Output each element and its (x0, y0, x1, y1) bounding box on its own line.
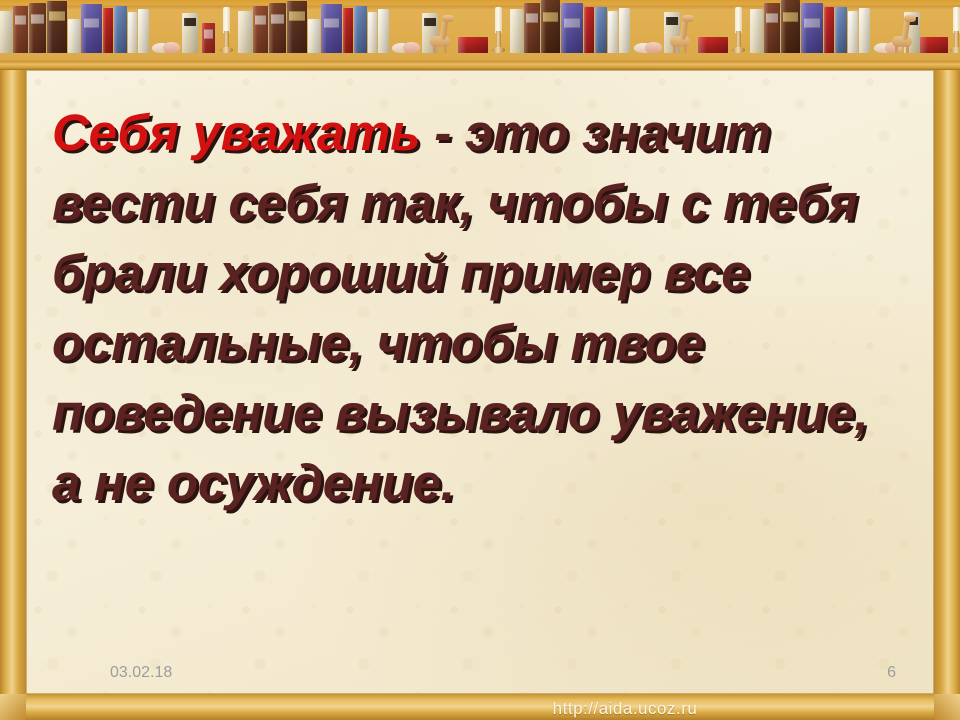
book-spine (81, 4, 102, 53)
book-spine (354, 6, 367, 53)
candlestick-icon (492, 7, 505, 53)
quote-body: - это значит вести себя так, чтобы с теб… (52, 104, 868, 511)
book-spine (824, 7, 834, 53)
candlestick-icon (732, 7, 745, 53)
giraffe-figurine-icon (890, 13, 916, 53)
book-spine (561, 3, 583, 53)
book-spine (595, 7, 607, 53)
book-spine (619, 8, 630, 53)
frame-right-edge (934, 70, 960, 720)
frame-left-edge (0, 70, 26, 720)
candlestick-icon (220, 7, 233, 53)
candlestick-icon (950, 7, 960, 53)
bookshelf-border (0, 0, 960, 70)
book-spine (781, 0, 800, 53)
book-spine (835, 7, 847, 53)
book-spine (378, 9, 389, 53)
book-spine (182, 13, 198, 53)
book-spine (510, 9, 523, 53)
book-spine (458, 37, 488, 53)
quote-text: Себя уважать - это значит вести себя так… (52, 98, 908, 518)
shell-ornament (152, 40, 182, 53)
book-spine (584, 7, 594, 53)
footer-page-number: 6 (887, 664, 896, 682)
book-spine (0, 11, 12, 53)
book-spine (253, 6, 268, 53)
bookshelf-tile (200, 0, 440, 62)
book-spine (308, 19, 320, 53)
footer-date: 03.02.18 (110, 664, 172, 682)
book-spine (13, 6, 28, 53)
slide: Себя уважать - это значит вести себя так… (0, 0, 960, 720)
book-spine (68, 19, 80, 53)
slide-content-area: Себя уважать - это значит вести себя так… (26, 70, 934, 694)
book-spine (608, 11, 618, 53)
book-spine (128, 12, 137, 53)
book-spine (114, 6, 127, 53)
book-spine (269, 3, 286, 53)
giraffe-figurine-icon (668, 13, 694, 53)
book-spine (321, 4, 342, 53)
book-spine (541, 0, 560, 53)
bookshelf-tile (680, 0, 920, 62)
book-spine (698, 37, 728, 53)
book-spine (524, 3, 540, 53)
bookshelf-tile (440, 0, 680, 62)
book-spine (343, 8, 353, 53)
book-spine (859, 8, 870, 53)
watermark-url: http://aida.ucoz.ru (0, 699, 960, 719)
bookshelf-tile (900, 0, 960, 62)
book-spine (368, 12, 377, 53)
quote-highlight: Себя уважать (52, 104, 420, 161)
book-spine (47, 1, 67, 53)
book-spine (103, 8, 113, 53)
shell-ornament (634, 40, 664, 53)
shell-ornament (392, 40, 422, 53)
bookshelf-tile (0, 0, 200, 62)
book-spine (238, 11, 252, 53)
book-spine (202, 23, 215, 53)
book-spine (848, 11, 858, 53)
book-spine (138, 9, 149, 53)
book-spine (920, 37, 948, 53)
book-spine (801, 3, 823, 53)
book-spine (750, 9, 763, 53)
book-spine (287, 1, 307, 53)
book-spine (764, 3, 780, 53)
giraffe-figurine-icon (428, 13, 454, 53)
book-spine (29, 3, 46, 53)
